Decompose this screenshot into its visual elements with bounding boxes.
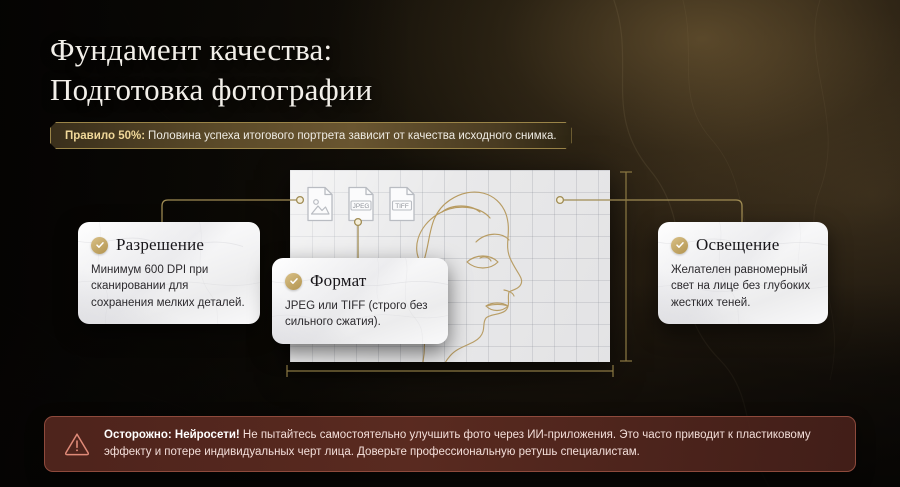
card-title: Освещение bbox=[696, 235, 779, 255]
tiff-file-label: TIFF bbox=[395, 203, 409, 210]
warning-banner: Осторожно: Нейросети! Не пытайтесь самос… bbox=[44, 416, 856, 472]
warning-label: Осторожно: Нейросети! bbox=[104, 429, 240, 441]
check-circle-icon bbox=[285, 273, 302, 290]
card-body: Минимум 600 DPI при сканировании для сох… bbox=[91, 262, 246, 311]
tiff-file-icon: TIFF bbox=[387, 186, 417, 222]
check-circle-icon bbox=[91, 237, 108, 254]
warning-triangle-icon bbox=[63, 430, 91, 458]
card-title: Разрешение bbox=[116, 235, 204, 255]
info-card-light[interactable]: Освещение Желателен равномерный свет на … bbox=[658, 222, 828, 324]
card-header: Формат bbox=[285, 271, 434, 291]
warning-text: Осторожно: Нейросети! Не пытайтесь самос… bbox=[104, 427, 837, 462]
card-header: Освещение bbox=[671, 235, 814, 255]
card-body: JPEG или TIFF (строго без сильного сжати… bbox=[285, 298, 434, 331]
jpeg-file-icon: JPEG bbox=[346, 186, 376, 222]
rule-banner: Правило 50%: Половина успеха итогового п… bbox=[50, 122, 572, 149]
card-header: Разрешение bbox=[91, 235, 246, 255]
slide-root: Фундамент качества: Подготовка фотографи… bbox=[0, 0, 900, 487]
page-title-line-1: Фундамент качества: bbox=[50, 32, 332, 67]
rule-banner-text: Половина успеха итогового портрета завис… bbox=[148, 130, 557, 142]
image-file-icon bbox=[305, 186, 335, 222]
card-body: Желателен равномерный свет на лице без г… bbox=[671, 262, 814, 311]
page-title-line-2: Подготовка фотографии bbox=[50, 70, 610, 110]
rule-banner-label: Правило 50%: bbox=[65, 130, 145, 142]
check-circle-icon bbox=[671, 237, 688, 254]
jpeg-file-label: JPEG bbox=[353, 203, 370, 210]
info-card-format[interactable]: Формат JPEG или TIFF (строго без сильног… bbox=[272, 258, 448, 344]
card-title: Формат bbox=[310, 271, 367, 291]
info-card-resolution[interactable]: Разрешение Минимум 600 DPI при сканирова… bbox=[78, 222, 260, 324]
page-title: Фундамент качества: Подготовка фотографи… bbox=[50, 30, 610, 111]
file-icon-row: JPEG TIFF bbox=[305, 186, 417, 222]
